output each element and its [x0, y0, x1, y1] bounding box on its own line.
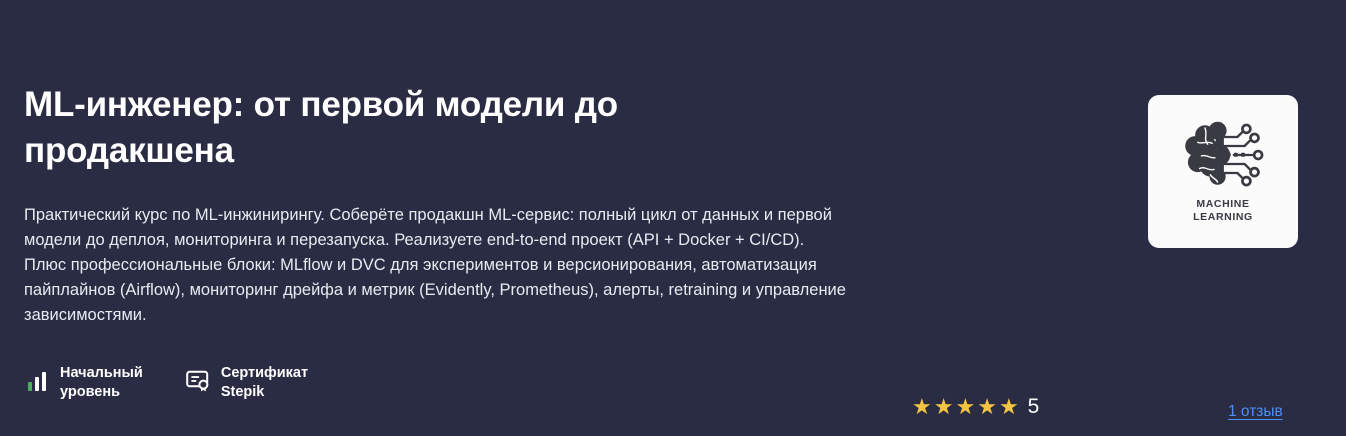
star-icon-3: ★ [955, 396, 975, 418]
brain-circuit-icon [1178, 119, 1268, 191]
course-cover-card: MACHINE LEARNING [1148, 95, 1298, 248]
star-icon-2: ★ [934, 396, 954, 418]
course-description: Практический курс по ML-инжинирингу. Соб… [24, 203, 849, 328]
course-hero-banner: ML-инженер: от первой модели до продакше… [0, 0, 1346, 436]
rating-value: 5 [1028, 396, 1040, 418]
cover-caption: MACHINE LEARNING [1193, 198, 1253, 224]
feature-difficulty-level: Начальный уровень [24, 364, 143, 402]
star-icon-5: ★ [999, 396, 1019, 418]
course-info-column: ML-инженер: от первой модели до продакше… [24, 0, 1124, 436]
star-icon-4: ★ [977, 396, 997, 418]
level-bars-icon [24, 364, 50, 396]
course-feature-list: Начальный уровень Сертификат Stepik [24, 364, 350, 402]
feature-certificate: Сертификат Stepik [185, 364, 308, 402]
feature-certificate-label: Сертификат Stepik [221, 364, 308, 402]
feature-difficulty-label: Начальный уровень [60, 364, 143, 402]
star-icon-1: ★ [912, 396, 932, 418]
page-title: ML-инженер: от первой модели до продакше… [24, 82, 784, 174]
rating-stars: ★ ★ ★ ★ ★ [912, 396, 1019, 418]
course-rating: ★ ★ ★ ★ ★ 5 [912, 396, 1039, 418]
certificate-icon [185, 364, 211, 396]
reviews-link[interactable]: 1 отзыв [1228, 402, 1283, 422]
